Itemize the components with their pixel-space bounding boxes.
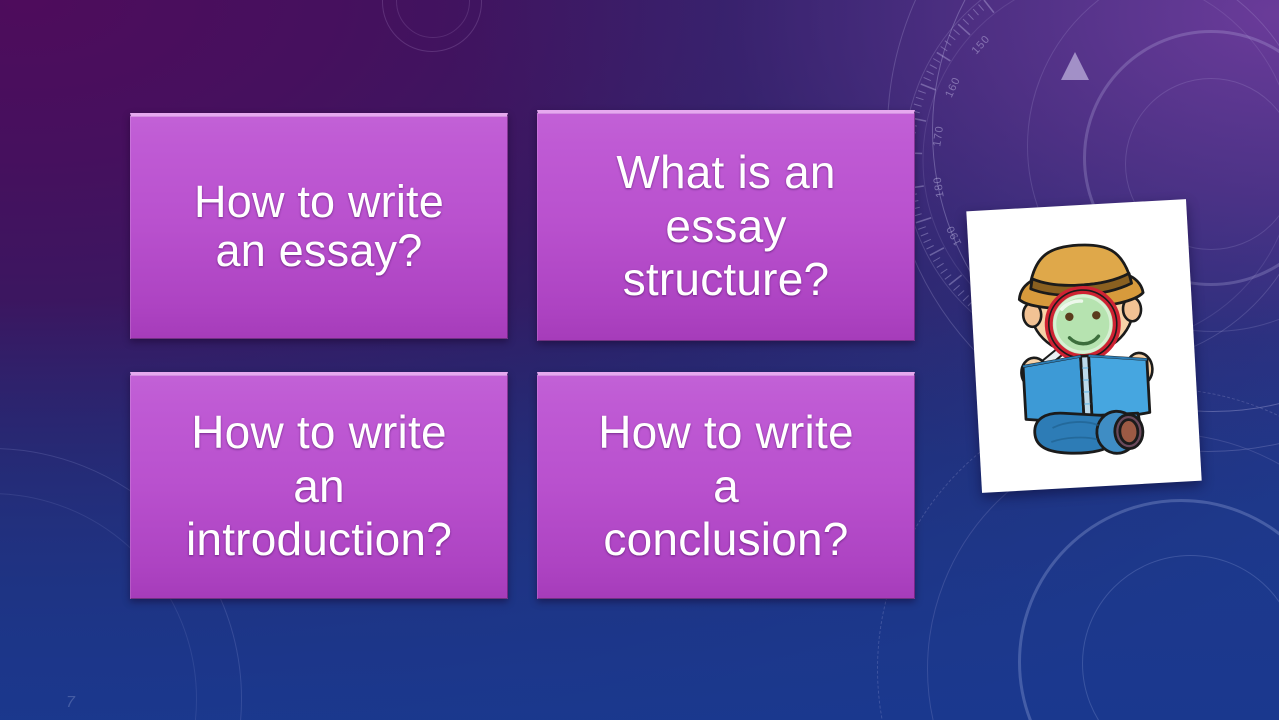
question-card-label: How to write an introduction? xyxy=(186,406,452,567)
question-card-label: What is an essay structure? xyxy=(616,146,835,307)
question-card-how-to-write-a-conclusion[interactable]: How to write a conclusion? xyxy=(537,372,915,599)
question-card-what-is-an-essay-structure[interactable]: What is an essay structure? xyxy=(537,110,915,341)
photo-frame xyxy=(966,199,1201,493)
presentation-slide: 150160170180190200210 How to write an es… xyxy=(0,0,1279,720)
question-card-how-to-write-an-essay[interactable]: How to write an essay? xyxy=(130,113,508,339)
question-card-label: How to write an essay? xyxy=(194,178,444,275)
ghost-slide-number: 7 xyxy=(66,694,75,712)
question-card-label: How to write a conclusion? xyxy=(598,406,853,567)
detective-kid-illustration xyxy=(981,215,1187,477)
question-card-how-to-write-an-introduction[interactable]: How to write an introduction? xyxy=(130,372,508,599)
